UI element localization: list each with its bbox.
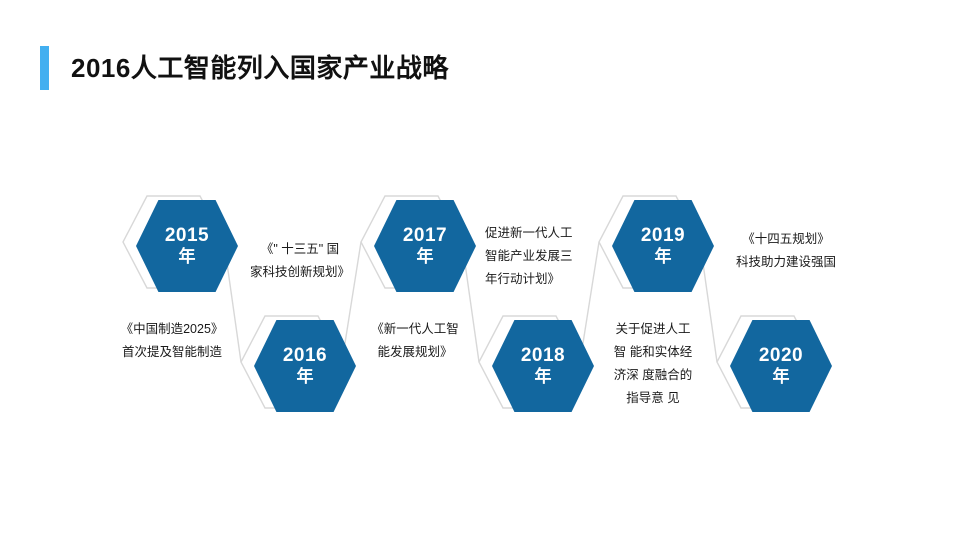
hexagon-shape — [612, 200, 714, 292]
year-node-2018[interactable]: 2018 年 — [492, 320, 594, 412]
caption-2017: 《新一代人工智 能发展规划》 — [356, 318, 474, 364]
year-node-2016[interactable]: 2016 年 — [254, 320, 356, 412]
hexagon-shape — [492, 320, 594, 412]
hexagon-shape — [730, 320, 832, 412]
year-node-2020[interactable]: 2020 年 — [730, 320, 832, 412]
year-node-2019[interactable]: 2019 年 — [612, 200, 714, 292]
caption-2019: 关于促进人工 智 能和实体经 济深 度融合的 指导意 见 — [598, 318, 708, 411]
caption-2015: 《中国制造2025》 首次提及智能制造 — [102, 318, 242, 364]
caption-2020: 《十四五规划》 科技助力建设强国 — [716, 228, 856, 274]
caption-2016: 《" 十三五" 国 家科技创新规划》 — [240, 238, 360, 284]
hexagon-shape — [136, 200, 238, 292]
hexagon-shape — [254, 320, 356, 412]
caption-2018: 促进新一代人工 智能产业发展三 年行动计划》 — [485, 222, 595, 291]
hexagon-shape — [374, 200, 476, 292]
timeline-diagram: 2015 年 2016 年 2017 年 2018 年 2019 年 — [0, 0, 960, 540]
year-node-2017[interactable]: 2017 年 — [374, 200, 476, 292]
year-node-2015[interactable]: 2015 年 — [136, 200, 238, 292]
